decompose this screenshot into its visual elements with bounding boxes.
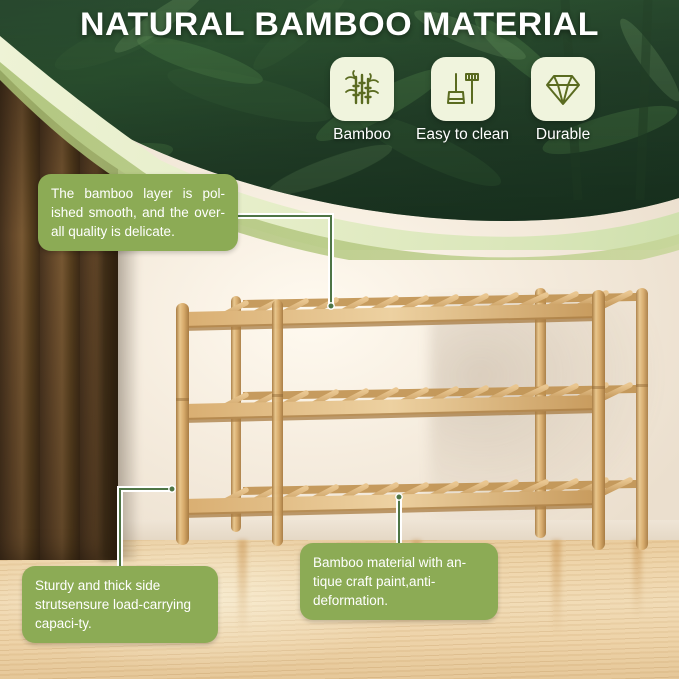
leg-reflection	[552, 540, 561, 635]
diamond-icon	[542, 68, 584, 110]
callout-antique-craft-paint: Bamboo material with an-tique craft pain…	[300, 543, 498, 620]
badge-label: Easy to clean	[416, 126, 509, 144]
bamboo-stalks-icon	[341, 68, 383, 110]
badge-label: Durable	[536, 126, 590, 144]
badge-label: Bamboo	[333, 126, 391, 144]
feature-badge-easy-to-clean[interactable]: Easy to clean	[416, 57, 509, 144]
feature-badge-row: Bamboo	[330, 57, 675, 144]
broom-dustpan-icon	[442, 68, 484, 110]
badge-tile	[531, 57, 595, 121]
product-infographic: NATURAL BAMBOO MATERIAL	[0, 0, 679, 679]
callout-polished-smooth: The bamboo layer is pol-ished smooth, an…	[38, 174, 238, 251]
feature-badge-bamboo[interactable]: Bamboo	[330, 57, 394, 144]
callout-sturdy-side-struts: Sturdy and thick side strutsensure load-…	[22, 566, 218, 643]
feature-badge-durable[interactable]: Durable	[531, 57, 595, 144]
leg-reflection	[633, 540, 642, 618]
badge-tile	[431, 57, 495, 121]
badge-tile	[330, 57, 394, 121]
leg-reflection	[238, 540, 247, 635]
wall-shadow	[430, 300, 679, 550]
page-title: NATURAL BAMBOO MATERIAL	[0, 6, 679, 43]
